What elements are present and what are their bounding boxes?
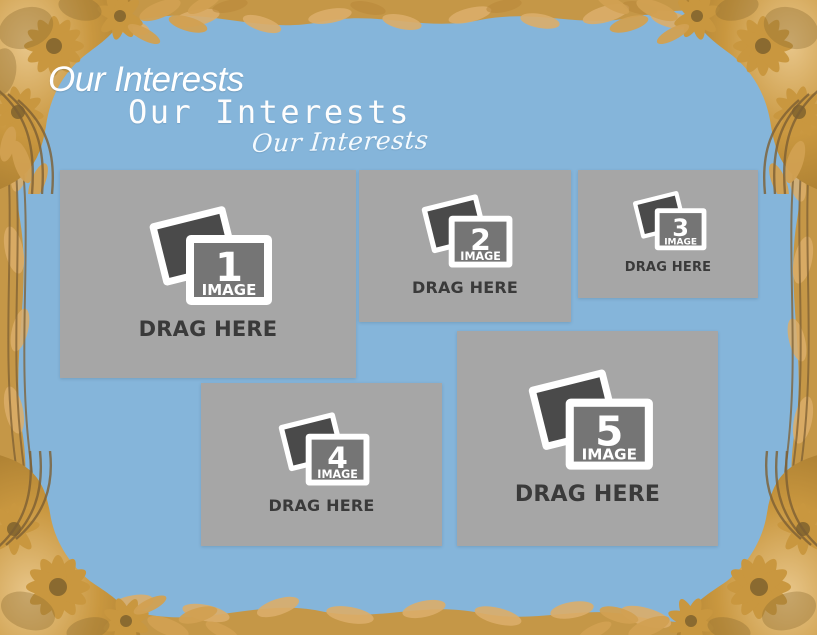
title-group: Our Interests Our Interests Our Interest… xyxy=(0,0,817,170)
image-drop-zone-2[interactable]: 2 IMAGE DRAG HERE xyxy=(359,170,571,322)
drag-here-label-2: DRAG HERE xyxy=(412,278,518,297)
drag-here-label-4: DRAG HERE xyxy=(268,496,374,515)
svg-text:IMAGE: IMAGE xyxy=(202,281,257,299)
slide-canvas: Our Interests Our Interests Our Interest… xyxy=(0,0,817,635)
image-placeholder-icon-2: 2 IMAGE xyxy=(413,192,517,272)
image-drop-zone-5[interactable]: 5 IMAGE DRAG HERE xyxy=(457,331,718,546)
drag-here-label-1: DRAG HERE xyxy=(139,317,278,341)
image-drop-zone-3[interactable]: 3 IMAGE DRAG HERE xyxy=(578,170,758,298)
image-drop-zone-1[interactable]: 1 IMAGE DRAG HERE xyxy=(60,170,356,378)
drag-here-label-5: DRAG HERE xyxy=(515,482,660,507)
svg-text:IMAGE: IMAGE xyxy=(581,446,636,464)
drag-here-label-3: DRAG HERE xyxy=(625,260,712,275)
svg-text:IMAGE: IMAGE xyxy=(460,250,501,263)
border-edge-bottom-icon xyxy=(0,583,817,635)
page-title-script: Our Interests xyxy=(251,127,430,156)
page-title-secondary: Our Interests xyxy=(128,96,411,128)
image-placeholder-icon-4: 4 IMAGE xyxy=(270,410,374,490)
page-title-primary: Our Interests xyxy=(48,62,244,97)
svg-text:IMAGE: IMAGE xyxy=(317,468,358,481)
image-placeholder-icon-5: 5 IMAGE xyxy=(517,366,659,476)
image-drop-zone-4[interactable]: 4 IMAGE DRAG HERE xyxy=(201,383,442,546)
image-placeholder-icon-3: 3 IMAGE xyxy=(626,189,710,254)
svg-text:IMAGE: IMAGE xyxy=(664,237,697,247)
image-placeholder-icon-1: 1 IMAGE xyxy=(138,203,278,311)
